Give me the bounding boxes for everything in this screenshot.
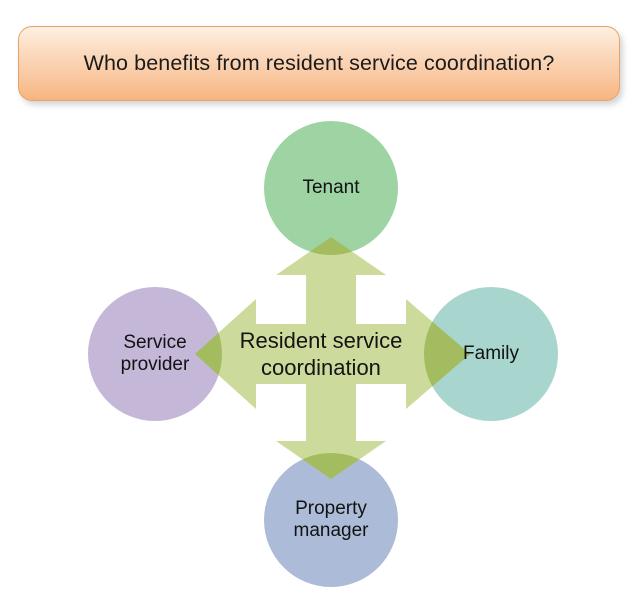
center-label: Resident service coordination bbox=[221, 310, 421, 398]
center-label-line2: coordination bbox=[261, 355, 381, 380]
diagram-stage: Tenant Service provider Family Property … bbox=[0, 101, 640, 593]
node-label-family: Family bbox=[463, 343, 519, 365]
node-label-service-provider-line1: Service bbox=[123, 332, 186, 353]
node-label-service-provider-line2: provider bbox=[121, 354, 190, 375]
node-label-property-manager-line1: Property bbox=[295, 498, 367, 519]
diagram-canvas: Who benefits from resident service coord… bbox=[0, 0, 640, 593]
node-label-tenant: Tenant bbox=[302, 177, 359, 199]
center-label-text: Resident service coordination bbox=[240, 327, 403, 382]
node-label-property-manager: Property manager bbox=[294, 498, 369, 543]
node-label-service-provider: Service provider bbox=[121, 332, 190, 377]
node-label-property-manager-line2: manager bbox=[294, 520, 369, 541]
title-banner: Who benefits from resident service coord… bbox=[18, 26, 620, 101]
node-circle-tenant[interactable]: Tenant bbox=[264, 121, 398, 255]
node-circle-family[interactable]: Family bbox=[424, 287, 558, 421]
center-label-line1: Resident service bbox=[240, 328, 403, 353]
page-title: Who benefits from resident service coord… bbox=[84, 51, 555, 76]
node-circle-service-provider[interactable]: Service provider bbox=[88, 287, 222, 421]
node-circle-property-manager[interactable]: Property manager bbox=[264, 453, 398, 587]
